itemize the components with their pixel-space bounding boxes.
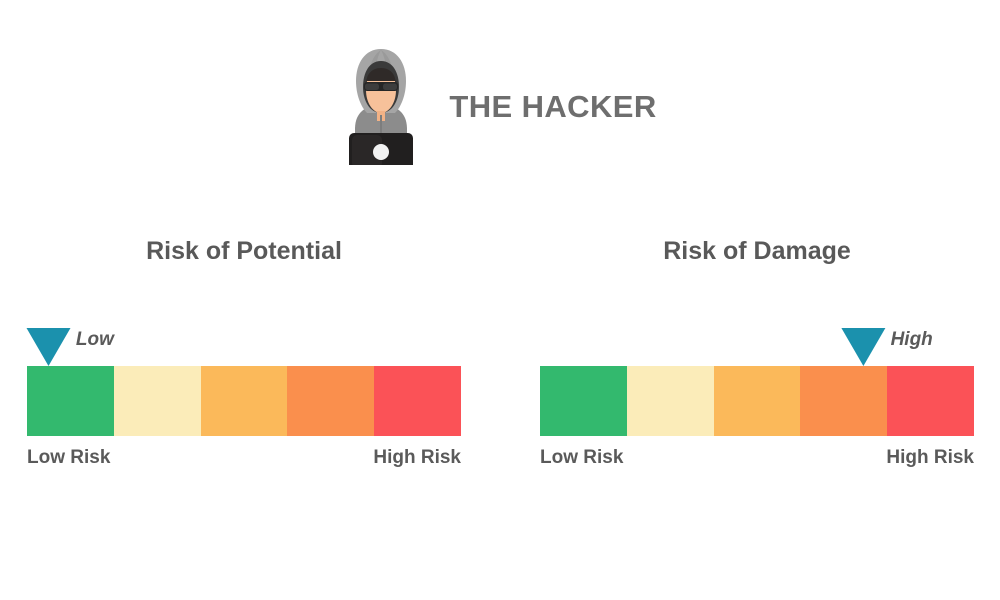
gauge-title-risk-of-potential: Risk of Potential (27, 238, 461, 270)
risk-scale-bar-damage (540, 366, 974, 436)
risk-marker-damage[interactable]: High (842, 328, 933, 366)
gauge-risk-of-potential: Risk of Potential Low Low Risk High Risk (27, 238, 461, 467)
scale-segment-3 (714, 366, 801, 436)
scale-low-label: Low Risk (540, 448, 623, 467)
scale-segment-1 (27, 366, 114, 436)
scale-low-label: Low Risk (27, 448, 110, 467)
scale-segment-3 (201, 366, 288, 436)
scale-segment-4 (287, 366, 374, 436)
marker-lane-risk-of-potential: Low (27, 304, 461, 366)
page-title: THE HACKER (449, 91, 656, 122)
gauge-title-risk-of-damage: Risk of Damage (540, 238, 974, 270)
scale-segment-2 (114, 366, 201, 436)
marker-triangle-icon (842, 328, 886, 366)
marker-triangle-icon (27, 328, 71, 366)
scale-segment-1 (540, 366, 627, 436)
scale-endlabels-potential: Low Risk High Risk (27, 448, 461, 467)
scale-endlabels-damage: Low Risk High Risk (540, 448, 974, 467)
risk-marker-potential[interactable]: Low (27, 328, 114, 366)
marker-label-potential: Low (76, 330, 114, 349)
marker-label-damage: High (891, 330, 933, 349)
scale-high-label: High Risk (373, 448, 461, 467)
marker-lane-risk-of-damage: High (540, 304, 974, 366)
scale-segment-5 (374, 366, 461, 436)
risk-scale-bar-potential (27, 366, 461, 436)
hacker-avatar-icon (343, 45, 419, 165)
gauge-risk-of-damage: Risk of Damage High Low Risk High Risk (540, 238, 974, 467)
scale-segment-5 (887, 366, 974, 436)
scale-high-label: High Risk (886, 448, 974, 467)
scale-segment-4 (800, 366, 887, 436)
persona-header: THE HACKER (0, 42, 1000, 167)
scale-segment-2 (627, 366, 714, 436)
